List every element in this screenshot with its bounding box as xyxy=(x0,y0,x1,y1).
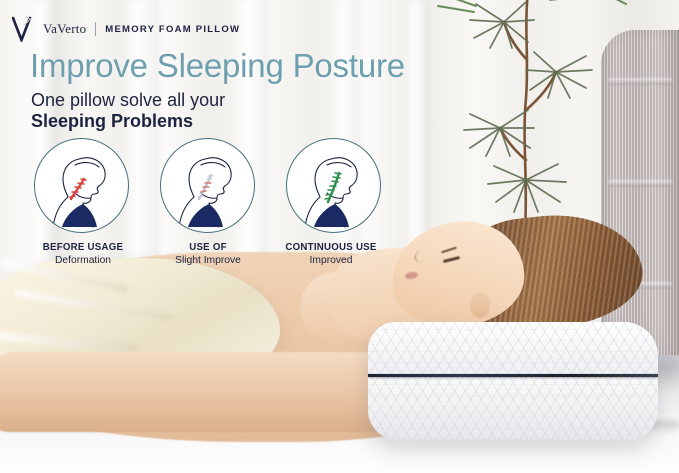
brand-name: VaVerto xyxy=(43,21,86,37)
step-use-of: USE OF Slight Improve xyxy=(160,138,260,266)
step-caption: Slight Improve xyxy=(156,255,260,266)
step-continuous-use: CONTINUOUS USE Improved xyxy=(286,138,386,266)
step-title: CONTINUOUS USE xyxy=(276,242,386,253)
memory-foam-pillow xyxy=(368,322,658,440)
step-title: BEFORE USAGE xyxy=(32,242,134,253)
woman-profile-aligned-spine-icon xyxy=(286,138,381,233)
step-caption: Improved xyxy=(276,255,386,266)
woman-profile-partial-spine-icon xyxy=(160,138,255,233)
woman-ear xyxy=(470,292,490,318)
subheadline-line-1: One pillow solve all your xyxy=(31,90,225,111)
woman-profile-curved-spine-icon xyxy=(34,138,129,233)
woman-arm xyxy=(0,352,410,432)
marketing-copy-panel: VaVerto MEMORY FOAM PILLOW Improve Sleep… xyxy=(0,0,440,280)
vaverto-v-monogram-icon xyxy=(12,16,34,42)
step-title: USE OF xyxy=(156,242,260,253)
step-before-usage: BEFORE USAGE Deformation xyxy=(34,138,134,266)
pillow-piping xyxy=(368,374,658,377)
brand-divider xyxy=(95,22,96,36)
page-title: Improve Sleeping Posture xyxy=(30,47,405,85)
step-caption: Deformation xyxy=(32,255,134,266)
subheadline-line-2: Sleeping Problems xyxy=(31,111,193,132)
product-line-label: MEMORY FOAM PILLOW xyxy=(105,24,240,35)
potted-dracaena-plant-icon xyxy=(430,0,630,220)
posture-steps: BEFORE USAGE Deformation xyxy=(34,138,386,266)
product-marketing-image: VaVerto MEMORY FOAM PILLOW Improve Sleep… xyxy=(0,0,679,473)
brand-lockup: VaVerto MEMORY FOAM PILLOW xyxy=(12,16,240,42)
